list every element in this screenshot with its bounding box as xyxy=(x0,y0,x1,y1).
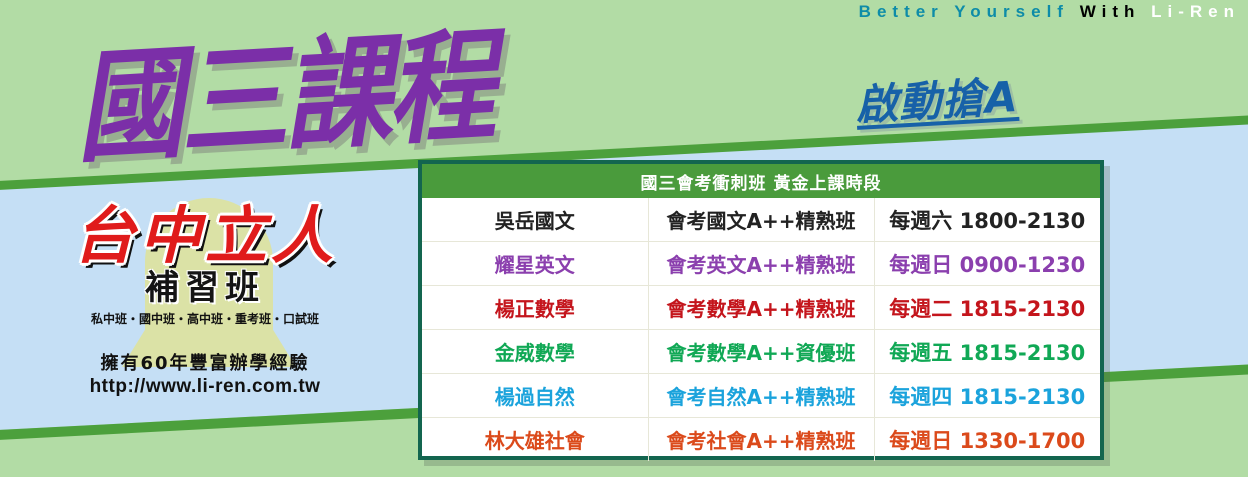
table-row: 楊過自然會考自然A++精熟班每週四 1815-2130 xyxy=(422,374,1100,418)
cell-time: 每週五 1815-2130 xyxy=(874,330,1100,374)
table-row: 金威數學會考數學A++資優班每週五 1815-2130 xyxy=(422,330,1100,374)
page-title: 國三課程 xyxy=(70,0,495,186)
cell-course: 會考國文A++精熟班 xyxy=(648,198,874,242)
promotional-banner: Better Yourself With Li-Ren 國三課程 啟動搶A 台中… xyxy=(0,0,1248,477)
page-subtitle: 啟動搶A xyxy=(854,63,1020,133)
cell-teacher: 吳岳國文 xyxy=(422,198,648,242)
cell-teacher: 耀星英文 xyxy=(422,242,648,286)
cell-teacher: 楊正數學 xyxy=(422,286,648,330)
cell-teacher: 楊過自然 xyxy=(422,374,648,418)
schedule-header-title: 國三會考衝刺班 黃金上課時段 xyxy=(422,164,1100,198)
schedule-table-head: 國三會考衝刺班 黃金上課時段 xyxy=(422,164,1100,198)
table-row: 耀星英文會考英文A++精熟班每週日 0900-1230 xyxy=(422,242,1100,286)
tagline-part-3: Li-Ren xyxy=(1151,2,1240,21)
cell-course: 會考數學A++資優班 xyxy=(648,330,874,374)
schedule-table-body: 吳岳國文會考國文A++精熟班每週六 1800-2130耀星英文會考英文A++精熟… xyxy=(422,198,1100,461)
table-row: 林大雄社會會考社會A++精熟班每週日 1330-1700 xyxy=(422,418,1100,462)
logo-class-list: 私中班・國中班・高中班・重考班・口試班 xyxy=(40,310,370,327)
logo-type: 補習班 xyxy=(40,271,370,305)
tagline: Better Yourself With Li-Ren xyxy=(859,2,1240,22)
cell-course: 會考自然A++精熟班 xyxy=(648,374,874,418)
cell-course: 會考社會A++精熟班 xyxy=(648,418,874,462)
cell-time: 每週四 1815-2130 xyxy=(874,374,1100,418)
brand-logo: 台中立人 補習班 私中班・國中班・高中班・重考班・口試班 擁有60年豐富辦學經驗… xyxy=(40,205,370,398)
cell-teacher: 金威數學 xyxy=(422,330,648,374)
cell-course: 會考數學A++精熟班 xyxy=(648,286,874,330)
logo-website-url[interactable]: http://www.li-ren.com.tw xyxy=(40,376,370,398)
cell-time: 每週日 0900-1230 xyxy=(874,242,1100,286)
tagline-part-2: With xyxy=(1080,2,1141,21)
cell-teacher: 林大雄社會 xyxy=(422,418,648,462)
cell-time: 每週日 1330-1700 xyxy=(874,418,1100,462)
cell-time: 每週二 1815-2130 xyxy=(874,286,1100,330)
tagline-part-1: Better Yourself xyxy=(859,2,1069,21)
logo-name: 台中立人 xyxy=(40,205,370,267)
schedule-header-row: 國三會考衝刺班 黃金上課時段 xyxy=(422,164,1100,198)
table-row: 吳岳國文會考國文A++精熟班每週六 1800-2130 xyxy=(422,198,1100,242)
logo-experience: 擁有60年豐富辦學經驗 xyxy=(40,349,370,375)
cell-course: 會考英文A++精熟班 xyxy=(648,242,874,286)
table-row: 楊正數學會考數學A++精熟班每週二 1815-2130 xyxy=(422,286,1100,330)
schedule-table-container: 國三會考衝刺班 黃金上課時段 吳岳國文會考國文A++精熟班每週六 1800-21… xyxy=(418,160,1104,460)
schedule-table: 國三會考衝刺班 黃金上課時段 吳岳國文會考國文A++精熟班每週六 1800-21… xyxy=(422,164,1100,461)
cell-time: 每週六 1800-2130 xyxy=(874,198,1100,242)
